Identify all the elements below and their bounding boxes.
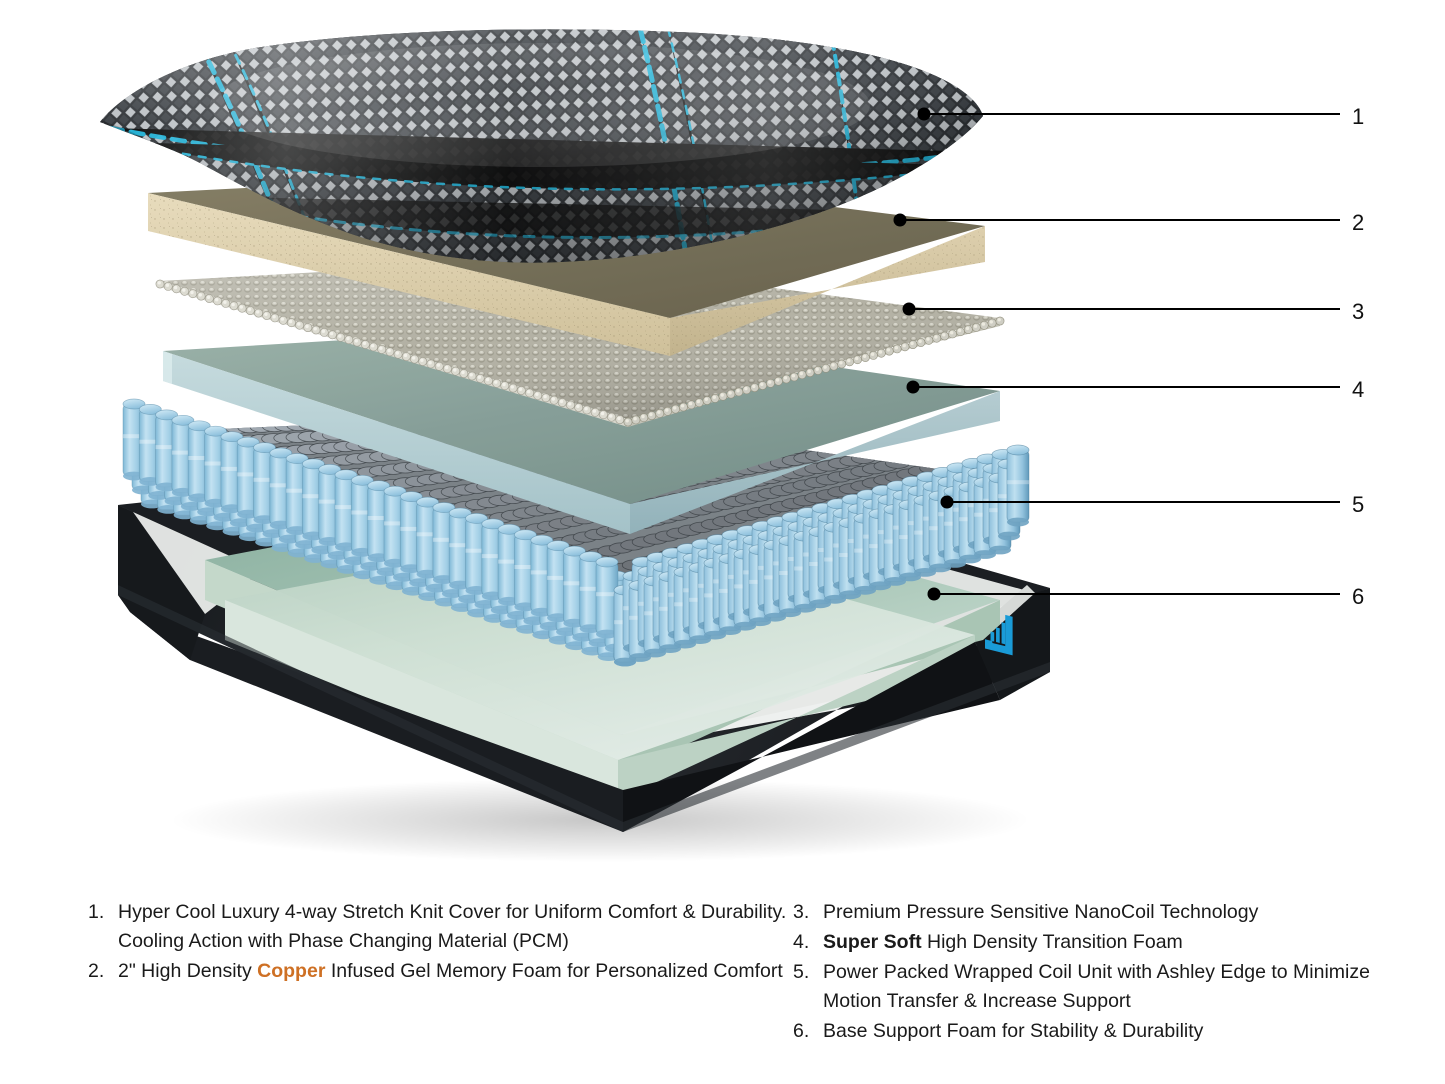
callout-number-4: 4 [1352, 379, 1364, 401]
callout-number-5: 5 [1352, 494, 1364, 516]
mattress-layer-infographic: 1 2 3 4 5 6 1.Hyper Cool Luxury 4-way St… [0, 0, 1445, 1084]
caption-text: Premium Pressure Sensitive NanoCoil Tech… [823, 898, 1393, 927]
caption-column-left: 1.Hyper Cool Luxury 4-way Stretch Knit C… [88, 898, 788, 987]
caption-item: 6.Base Support Foam for Stability & Dura… [793, 1017, 1393, 1046]
exploded-mattress-diagram [0, 0, 1445, 870]
caption-marker: 5. [793, 958, 823, 987]
caption-text: Hyper Cool Luxury 4-way Stretch Knit Cov… [118, 898, 788, 956]
caption-item: 2.2" High Density Copper Infused Gel Mem… [88, 957, 788, 986]
callout-number-3: 3 [1352, 301, 1364, 323]
caption-marker: 1. [88, 898, 118, 927]
caption-legend: 1.Hyper Cool Luxury 4-way Stretch Knit C… [0, 898, 1445, 1084]
caption-item: 5.Power Packed Wrapped Coil Unit with As… [793, 958, 1393, 1016]
caption-text: Super Soft High Density Transition Foam [823, 928, 1393, 957]
callout-number-1: 1 [1352, 106, 1364, 128]
caption-marker: 4. [793, 928, 823, 957]
caption-marker: 2. [88, 957, 118, 986]
callout-line-1 [918, 108, 1341, 121]
caption-item: 4.Super Soft High Density Transition Foa… [793, 928, 1393, 957]
callout-line-3 [903, 303, 1341, 316]
callout-number-2: 2 [1352, 212, 1364, 234]
caption-text: Base Support Foam for Stability & Durabi… [823, 1017, 1393, 1046]
caption-item: 3.Premium Pressure Sensitive NanoCoil Te… [793, 898, 1393, 927]
caption-marker: 3. [793, 898, 823, 927]
caption-marker: 6. [793, 1017, 823, 1046]
caption-text: 2" High Density Copper Infused Gel Memor… [118, 957, 788, 986]
caption-text: Power Packed Wrapped Coil Unit with Ashl… [823, 958, 1393, 1016]
copper-highlight: Copper [257, 960, 325, 982]
caption-column-right: 3.Premium Pressure Sensitive NanoCoil Te… [793, 898, 1393, 1047]
callout-number-6: 6 [1352, 586, 1364, 608]
caption-item: 1.Hyper Cool Luxury 4-way Stretch Knit C… [88, 898, 788, 956]
